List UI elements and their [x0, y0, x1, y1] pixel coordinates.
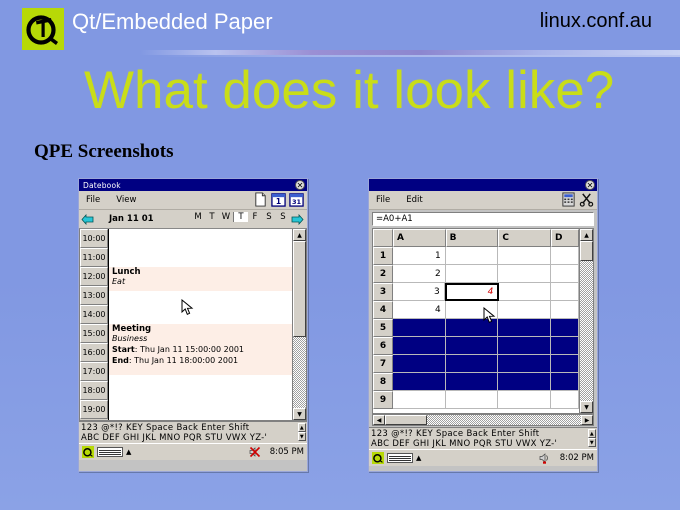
keyboard-row-1[interactable]: 123 @*!? KEY Space Back Enter Shift: [81, 423, 305, 433]
cell-b5[interactable]: [446, 319, 499, 337]
previous-day-icon[interactable]: [79, 212, 95, 226]
menu-item-edit[interactable]: Edit: [403, 194, 425, 206]
column-header-row: A B C D: [373, 229, 579, 247]
keyboard-row-2[interactable]: ABC DEF GHI JKL MNO PQR STU VWX YZ-': [81, 433, 305, 443]
cell-a4[interactable]: 4: [393, 301, 446, 319]
date-navigation-bar: Jan 11 01 M T W T F S S: [79, 210, 307, 229]
cell-b6[interactable]: [446, 337, 499, 355]
time-slot[interactable]: 17:00: [80, 362, 108, 381]
weekday-w[interactable]: W: [219, 212, 233, 222]
cell-a3[interactable]: 3: [393, 283, 445, 301]
cell-a2[interactable]: 2: [393, 265, 446, 283]
taskbar-clock: 8:05 PM: [270, 447, 304, 457]
scroll-thumb[interactable]: [293, 241, 306, 337]
spreadsheet-screenshot: ✕ File Edit: [368, 178, 598, 472]
cell-c2[interactable]: [498, 265, 551, 283]
cell-d9[interactable]: [551, 391, 579, 409]
table-row: 3 3 4: [373, 283, 579, 301]
time-slot[interactable]: 14:00: [80, 305, 108, 324]
event-start-value: : Thu Jan 11 15:00:00 2001: [135, 345, 244, 354]
event-end-label: End: [112, 356, 129, 365]
event-title: Meeting: [112, 324, 289, 334]
column-header-a[interactable]: A: [393, 229, 446, 247]
datebook-taskbar: ▲ 8:05 PM: [79, 443, 307, 460]
cell-d3[interactable]: [551, 283, 579, 301]
table-row: 1 1: [373, 247, 579, 265]
cell-d4[interactable]: [551, 301, 579, 319]
keyboard-row-2[interactable]: ABC DEF GHI JKL MNO PQR STU VWX YZ-': [371, 439, 595, 449]
cell-c3[interactable]: [499, 283, 551, 301]
cell-b2[interactable]: [446, 265, 499, 283]
scroll-track[interactable]: [580, 241, 593, 401]
scroll-thumb[interactable]: [580, 241, 593, 261]
table-row-selected: 6: [373, 337, 579, 355]
time-column: 10:00 11:00 12:00 13:00 14:00 15:00 16:0…: [80, 229, 108, 420]
cell-c1[interactable]: [498, 247, 551, 265]
datebook-menubar: File View 1: [79, 191, 307, 210]
cell-c9[interactable]: [498, 391, 551, 409]
slide-subheading: QPE Screenshots: [34, 141, 174, 163]
cell-b3-selected[interactable]: 4: [445, 283, 500, 301]
close-icon[interactable]: ✕: [585, 180, 595, 190]
cut-scissors-icon[interactable]: [579, 192, 594, 207]
event-meeting[interactable]: Meeting Business Start: Thu Jan 11 15:00…: [109, 324, 292, 375]
keyboard-scroll-down-icon[interactable]: ▼: [298, 432, 306, 441]
event-end-line: End: Thu Jan 11 18:00:00 2001: [112, 355, 289, 366]
row-header-8[interactable]: 8: [373, 373, 393, 391]
keyboard-side-buttons[interactable]: ▲ ▼: [588, 429, 596, 447]
slide-heading: What does it look like?: [84, 64, 644, 117]
row-header-4[interactable]: 4: [373, 301, 393, 319]
event-start-line: Start: Thu Jan 11 15:00:00 2001: [112, 344, 289, 355]
new-document-icon[interactable]: [253, 192, 268, 207]
cell-a6[interactable]: [393, 337, 446, 355]
row-header-6[interactable]: 6: [373, 337, 393, 355]
cell-c7[interactable]: [498, 355, 551, 373]
day-view-icon[interactable]: 1: [271, 192, 286, 207]
svg-text:31: 31: [292, 198, 302, 206]
caret-up-icon[interactable]: ▲: [416, 454, 421, 462]
cell-b7[interactable]: [446, 355, 499, 373]
event-desc: Eat: [112, 277, 289, 287]
spreadsheet-menubar: File Edit: [369, 191, 597, 210]
scroll-thumb[interactable]: [385, 415, 427, 425]
cell-a8[interactable]: [393, 373, 446, 391]
select-all-corner[interactable]: [373, 229, 393, 247]
cell-b1[interactable]: [446, 247, 499, 265]
month-view-icon[interactable]: 31: [289, 192, 304, 207]
cell-c5[interactable]: [498, 319, 551, 337]
menu-item-file[interactable]: File: [83, 194, 103, 206]
spreadsheet-vertical-scrollbar[interactable]: ▲ ▼: [579, 229, 593, 413]
event-start-label: Start: [112, 345, 135, 354]
spreadsheet-horizontal-scrollbar[interactable]: ◀ ▶: [372, 414, 594, 426]
table-row: 9: [373, 391, 579, 409]
qt-taskbar-icon[interactable]: [82, 446, 94, 458]
event-lunch[interactable]: Lunch Eat: [109, 267, 292, 291]
spreadsheet-grid: A B C D 1 1 2 2: [372, 228, 594, 414]
cell-c8[interactable]: [498, 373, 551, 391]
cell-a5[interactable]: [393, 319, 446, 337]
keyboard-row-1[interactable]: 123 @*!? KEY Space Back Enter Shift: [371, 429, 595, 439]
cell-a9[interactable]: [393, 391, 446, 409]
row-header-7[interactable]: 7: [373, 355, 393, 373]
spreadsheet-taskbar: ▲ 8:02 PM: [369, 449, 597, 466]
sheet-body: A B C D 1 1 2 2: [373, 229, 579, 413]
formula-input[interactable]: =A0+A1: [372, 212, 594, 226]
row-header-5[interactable]: 5: [373, 319, 393, 337]
current-date-label: Jan 11 01: [109, 214, 154, 224]
weekday-f[interactable]: F: [248, 212, 262, 222]
close-icon[interactable]: ✕: [295, 180, 305, 190]
volume-muted-icon[interactable]: [249, 446, 261, 458]
cell-d1[interactable]: [551, 247, 579, 265]
mouse-cursor-icon: [181, 299, 194, 316]
keyboard-scroll-down-icon[interactable]: ▼: [588, 438, 596, 447]
cell-a7[interactable]: [393, 355, 446, 373]
cell-c4[interactable]: [498, 301, 551, 319]
column-header-b[interactable]: B: [446, 229, 499, 247]
table-row-selected: 5: [373, 319, 579, 337]
cell-d5[interactable]: [551, 319, 579, 337]
weekday-t2-selected[interactable]: T: [233, 212, 248, 222]
next-day-icon[interactable]: [289, 212, 305, 226]
scroll-right-icon[interactable]: ▶: [581, 415, 593, 425]
event-area: Lunch Eat Meeting Business Start: Thu Ja…: [108, 229, 292, 420]
scroll-down-icon[interactable]: ▼: [580, 401, 593, 413]
datebook-virtual-keyboard[interactable]: 123 @*!? KEY Space Back Enter Shift ABC …: [79, 421, 307, 443]
weekday-s1[interactable]: S: [262, 212, 276, 222]
weekday-strip: M T W T F S S: [191, 212, 291, 222]
scroll-up-icon[interactable]: ▲: [580, 229, 593, 241]
weekday-m1[interactable]: M: [191, 212, 205, 222]
scroll-up-icon[interactable]: ▲: [293, 229, 306, 241]
datebook-screenshot: Datebook ✕ File View 1: [78, 178, 308, 472]
datebook-vertical-scrollbar[interactable]: ▲ ▼: [292, 229, 306, 420]
column-header-c[interactable]: C: [498, 229, 551, 247]
cell-b3-value: 4: [488, 287, 494, 297]
keyboard-icon[interactable]: [97, 447, 123, 457]
qt-logo-icon: [22, 8, 64, 50]
conference-name: linux.conf.au: [540, 10, 652, 33]
page-title: Qt/Embedded Paper: [72, 9, 273, 35]
time-slot[interactable]: 18:00: [80, 381, 108, 400]
event-end-value: : Thu Jan 11 18:00:00 2001: [129, 356, 238, 365]
cell-b9[interactable]: [446, 391, 499, 409]
table-row-selected: 8: [373, 373, 579, 391]
weekday-s2[interactable]: S: [276, 212, 290, 222]
calculator-icon[interactable]: [561, 192, 576, 207]
row-header-3[interactable]: 3: [373, 283, 393, 301]
datebook-day-view: 10:00 11:00 12:00 13:00 14:00 15:00 16:0…: [79, 229, 307, 421]
event-title: Lunch: [112, 267, 289, 277]
row-header-1[interactable]: 1: [373, 247, 393, 265]
menu-item-file[interactable]: File: [373, 194, 393, 206]
cell-d7[interactable]: [551, 355, 579, 373]
caret-up-icon[interactable]: ▲: [126, 448, 131, 456]
time-slot[interactable]: 11:00: [80, 248, 108, 267]
menu-item-view[interactable]: View: [113, 194, 139, 206]
time-slot[interactable]: 16:00: [80, 343, 108, 362]
time-slot[interactable]: 15:00: [80, 324, 108, 343]
scroll-down-icon[interactable]: ▼: [293, 408, 306, 420]
cell-d2[interactable]: [551, 265, 579, 283]
svg-text:1: 1: [276, 197, 281, 206]
table-row: 4 4: [373, 301, 579, 319]
taskbar-clock: 8:02 PM: [560, 453, 594, 463]
cell-b4[interactable]: [446, 301, 499, 319]
row-header-2[interactable]: 2: [373, 265, 393, 283]
table-row-selected: 7: [373, 355, 579, 373]
cell-a1[interactable]: 1: [393, 247, 446, 265]
slide-canvas: Qt/Embedded Paper linux.conf.au What doe…: [0, 0, 680, 510]
volume-icon[interactable]: [539, 452, 551, 464]
keyboard-scroll-up-icon[interactable]: ▲: [588, 429, 596, 438]
time-slot[interactable]: 13:00: [80, 286, 108, 305]
qt-taskbar-icon[interactable]: [372, 452, 384, 464]
time-slot[interactable]: 19:00: [80, 400, 108, 419]
column-header-d[interactable]: D: [551, 229, 579, 247]
datebook-titlebar: Datebook ✕: [79, 179, 307, 191]
datebook-title-text: Datebook: [81, 181, 121, 190]
cell-d8[interactable]: [551, 373, 579, 391]
event-desc: Business: [112, 334, 289, 344]
keyboard-icon[interactable]: [387, 453, 413, 463]
header-divider-secondary: [160, 55, 680, 57]
time-slot[interactable]: 12:00: [80, 267, 108, 286]
spreadsheet-titlebar: ✕: [369, 179, 597, 191]
cell-c6[interactable]: [498, 337, 551, 355]
scroll-left-icon[interactable]: ◀: [373, 415, 385, 425]
table-row: 2 2: [373, 265, 579, 283]
time-slot[interactable]: 10:00: [80, 229, 108, 248]
spreadsheet-virtual-keyboard[interactable]: 123 @*!? KEY Space Back Enter Shift ABC …: [369, 427, 597, 449]
cell-d6[interactable]: [551, 337, 579, 355]
cell-b8[interactable]: [446, 373, 499, 391]
keyboard-side-buttons[interactable]: ▲ ▼: [298, 423, 306, 441]
keyboard-scroll-up-icon[interactable]: ▲: [298, 423, 306, 432]
row-header-9[interactable]: 9: [373, 391, 393, 409]
weekday-t1[interactable]: T: [205, 212, 219, 222]
